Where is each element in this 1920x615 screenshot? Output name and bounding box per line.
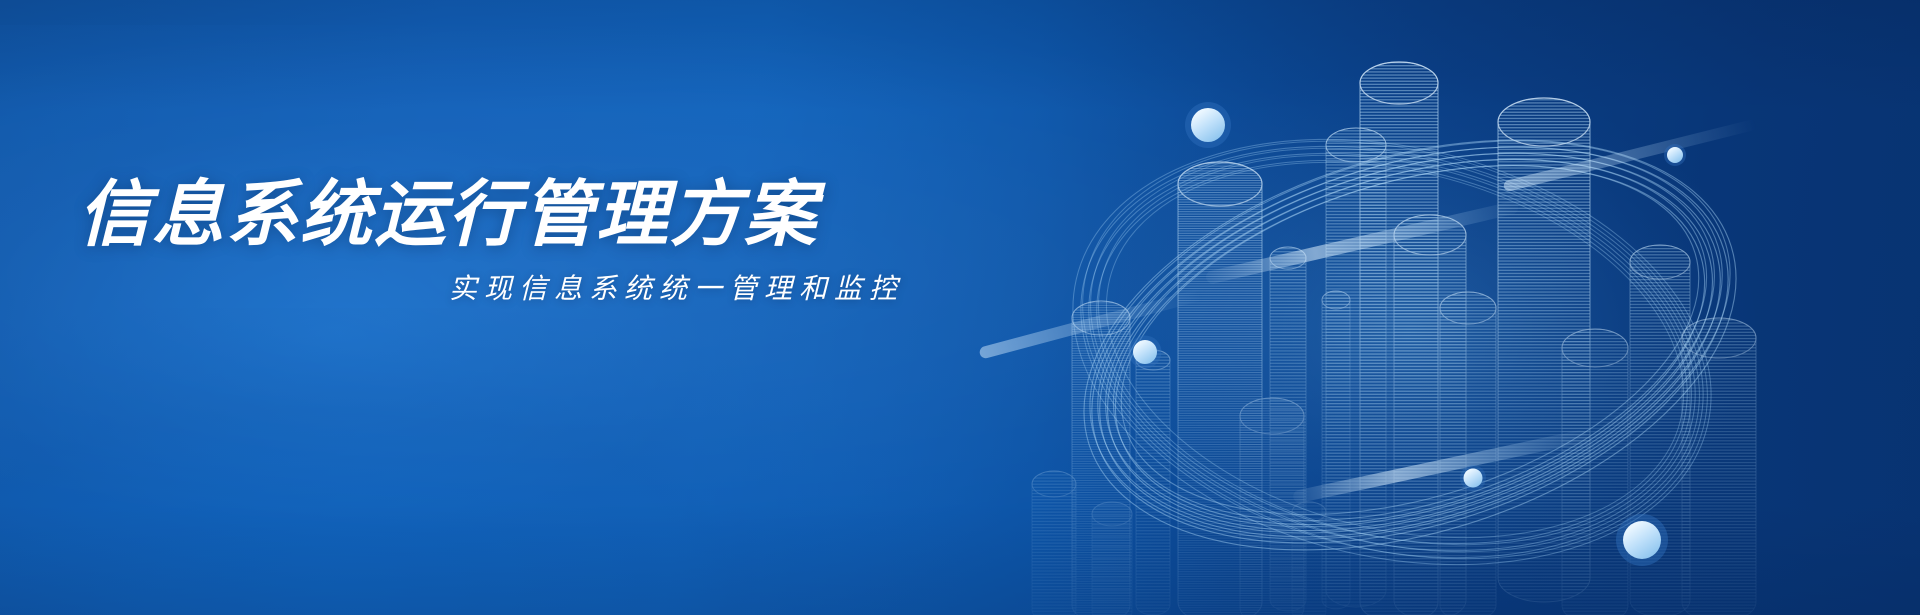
banner-text-block: 信息系统运行管理方案 实现信息系统统一管理和监控 bbox=[78, 178, 908, 307]
page-subtitle: 实现信息系统统一管理和监控 bbox=[78, 267, 908, 307]
page-title: 信息系统运行管理方案 bbox=[78, 178, 908, 253]
hero-banner: 信息系统运行管理方案 实现信息系统统一管理和监控 bbox=[0, 0, 1920, 615]
background-vignette bbox=[0, 0, 1920, 615]
